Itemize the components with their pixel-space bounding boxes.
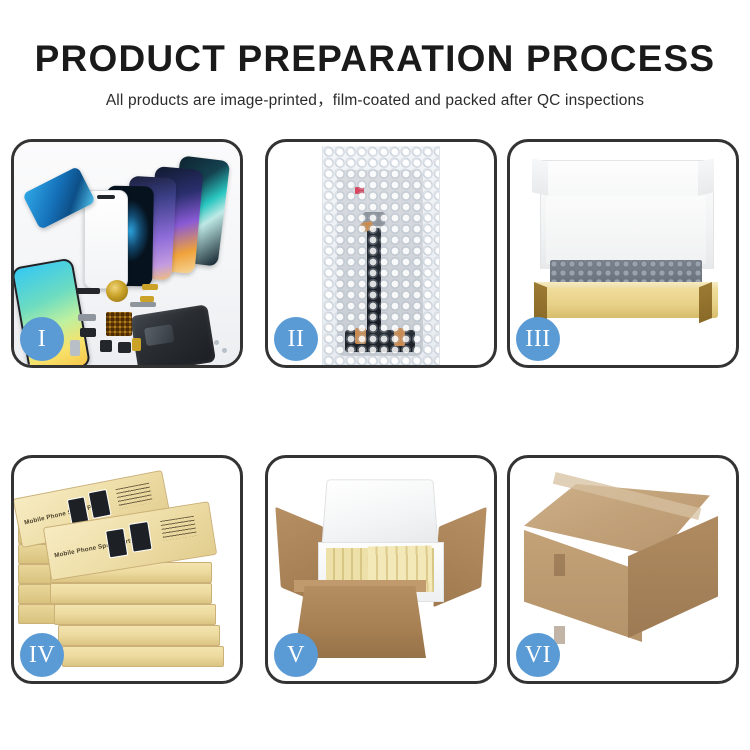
step-panel-2[interactable]: II <box>265 139 497 368</box>
earpiece-icon <box>118 342 131 353</box>
step-panel-6[interactable]: VI <box>507 455 739 684</box>
box-thumbnail-2a <box>105 528 128 559</box>
box-spec-lines-2 <box>160 516 197 541</box>
phone-backplate-icon <box>130 304 216 365</box>
red-label-icon <box>355 187 364 194</box>
stack-box-front-2 <box>50 583 212 604</box>
tape-tab-2-icon <box>355 328 366 344</box>
step-panel-1[interactable]: I <box>11 139 243 368</box>
screen-flex-cable-icon <box>367 228 381 336</box>
step-badge-1: I <box>20 317 64 361</box>
vibrator-icon <box>100 340 112 352</box>
antenna-strip-icon <box>130 302 156 307</box>
speaker-mesh-icon <box>76 288 100 294</box>
phone-screen-1-icon <box>84 190 128 289</box>
button-flex-icon <box>78 314 96 321</box>
step-badge-3: III <box>516 317 560 361</box>
step-badge-4: IV <box>20 633 64 677</box>
stack-box-front-4 <box>58 625 220 646</box>
stack-box-front-3 <box>54 604 216 625</box>
page-header: PRODUCT PREPARATION PROCESS All products… <box>0 0 750 110</box>
step-panel-5[interactable]: V <box>265 455 497 684</box>
sim-tray-icon <box>70 340 80 356</box>
copper-coil-icon <box>106 280 128 302</box>
step-badge-2: II <box>274 317 318 361</box>
ic-chip-icon <box>106 312 132 336</box>
box-spec-lines-1 <box>116 483 153 509</box>
wrapped-screen-icon <box>337 170 423 356</box>
box-thumbnail-1b <box>88 489 112 519</box>
flex-cable-icon <box>142 284 158 290</box>
battery-connector-icon <box>132 338 141 351</box>
bubble-wrap-sleeve-icon <box>322 146 440 365</box>
foam-sheet-icon <box>546 196 706 264</box>
screw-2-icon <box>222 348 227 353</box>
step-badge-6: VI <box>516 633 560 677</box>
tape-tab-3-icon <box>394 328 405 346</box>
gold-box-front-icon <box>534 288 718 318</box>
process-step-grid: I II <box>11 139 739 684</box>
box-thumbnail-2b <box>128 521 152 553</box>
page-subtitle: All products are image-printed，film-coat… <box>0 79 750 110</box>
page-title: PRODUCT PREPARATION PROCESS <box>0 0 750 79</box>
step-panel-3[interactable]: III <box>507 139 739 368</box>
camera-module-icon <box>80 328 96 337</box>
lid-flap-right-icon <box>698 158 714 195</box>
lid-flap-left-icon <box>532 158 548 195</box>
styrofoam-lid-icon <box>321 479 439 550</box>
screw-1-icon <box>214 340 219 345</box>
box-end-right-icon <box>699 282 712 323</box>
carton-seam-top-icon <box>554 554 565 576</box>
stack-box-front-5 <box>62 646 224 667</box>
step-panel-4[interactable]: Mobile Phone Spare Parts Mobile Phone Sp… <box>11 455 243 684</box>
step-badge-5: V <box>274 633 318 677</box>
product-preparation-page: PRODUCT PREPARATION PROCESS All products… <box>0 0 750 750</box>
